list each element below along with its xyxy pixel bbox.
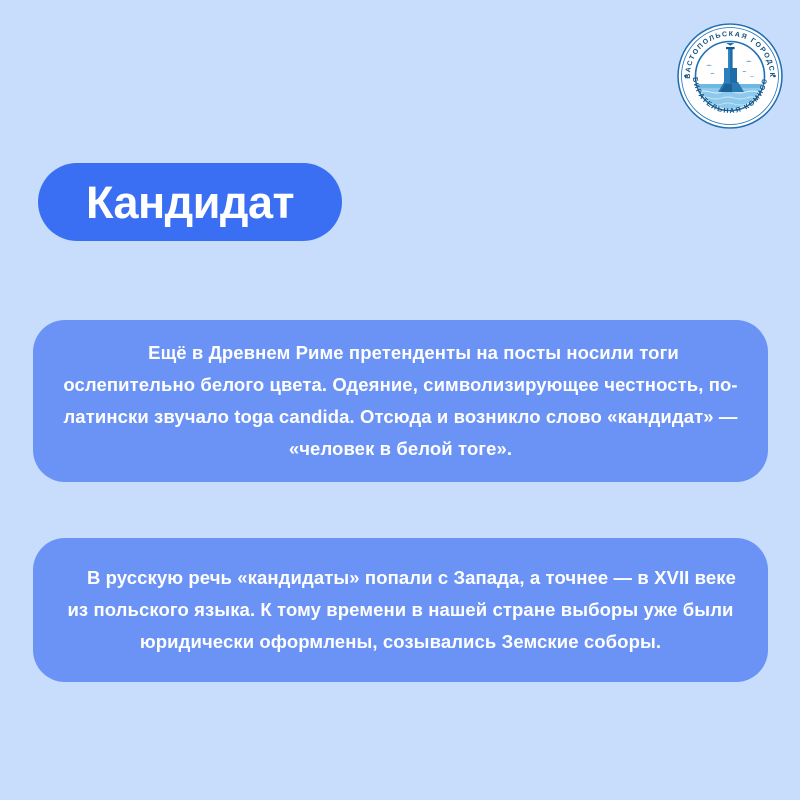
page-title: Кандидат [86, 180, 294, 225]
page-title-pill: Кандидат [38, 163, 342, 241]
commission-logo: СЕВАСТОПОЛЬСКАЯ ГОРОДСКАЯ ИЗБИРАТЕЛЬНАЯ … [676, 22, 784, 130]
info-card-text: Ещё в Древнем Риме претенденты на посты … [61, 337, 740, 465]
info-card-text: В русскую речь «кандидаты» попали с Запа… [61, 562, 740, 658]
info-card-russian-usage: В русскую речь «кандидаты» попали с Запа… [33, 538, 768, 682]
info-card-origin-rome: Ещё в Древнем Риме претенденты на посты … [33, 320, 768, 482]
infographic-poster: СЕВАСТОПОЛЬСКАЯ ГОРОДСКАЯ ИЗБИРАТЕЛЬНАЯ … [0, 0, 800, 800]
